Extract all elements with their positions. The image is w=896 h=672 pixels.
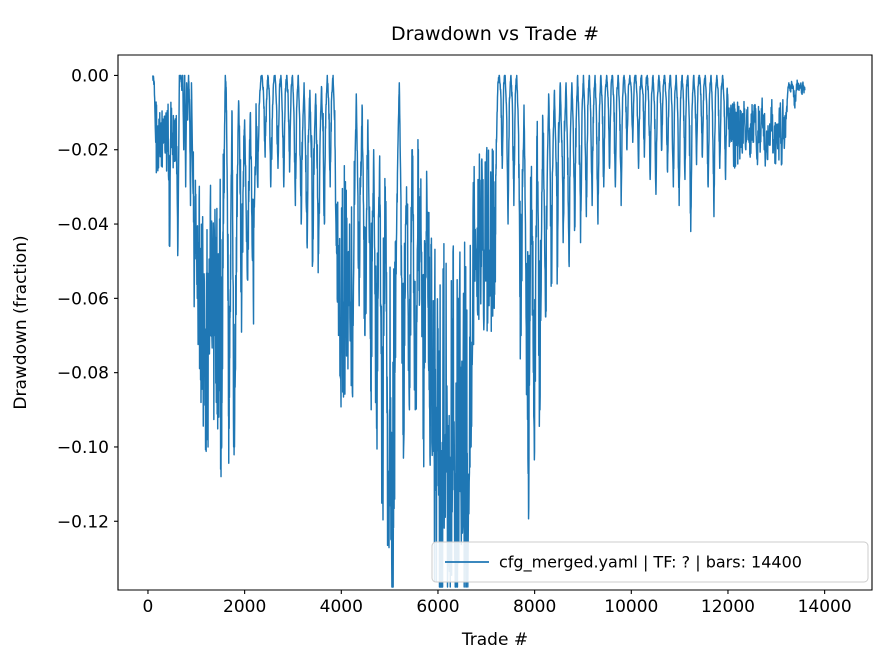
figure-canvas: Drawdown vs Trade # 0.00−0.02−0.04−0.06−…: [0, 0, 896, 672]
x-axis-title: Trade #: [461, 630, 528, 650]
y-tick-label: −0.08: [57, 364, 109, 384]
x-tick-label: 8000: [513, 597, 556, 617]
x-tick-label: 10000: [604, 597, 658, 617]
x-tick-label: 14000: [798, 597, 852, 617]
y-tick-label: −0.04: [57, 215, 109, 235]
chart-legend[interactable]: cfg_merged.yaml | TF: ? | bars: 14400: [432, 542, 868, 582]
chart-title: Drawdown vs Trade #: [391, 23, 599, 45]
x-tick-label: 0: [143, 597, 154, 617]
drawdown-chart: Drawdown vs Trade # 0.00−0.02−0.04−0.06−…: [0, 0, 896, 672]
x-tick-label: 6000: [416, 597, 459, 617]
y-tick-label: −0.06: [57, 289, 109, 309]
y-tick-label: −0.02: [57, 141, 109, 161]
y-tick-label: −0.12: [57, 512, 109, 532]
y-axis-title: Drawdown (fraction): [11, 235, 31, 409]
y-tick-label: −0.10: [57, 438, 109, 458]
x-tick-label: 2000: [223, 597, 266, 617]
y-tick-label: 0.00: [71, 66, 109, 86]
x-tick-label: 12000: [701, 597, 755, 617]
legend-label: cfg_merged.yaml | TF: ? | bars: 14400: [499, 553, 802, 573]
x-tick-label: 4000: [320, 597, 363, 617]
